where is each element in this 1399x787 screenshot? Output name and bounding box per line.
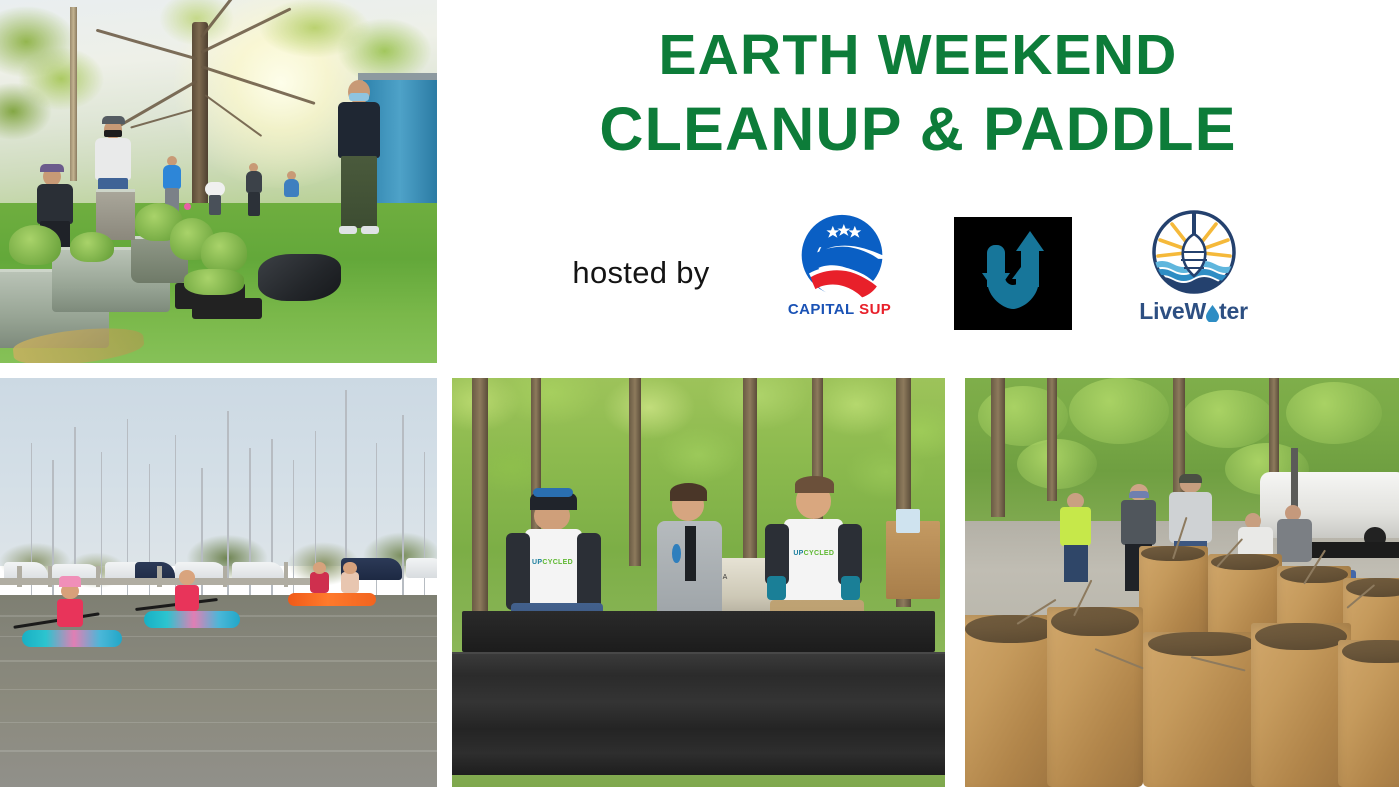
garden-person-distant-dark — [245, 163, 263, 228]
paper-bag — [1143, 632, 1260, 787]
bags-person-kneeling-b — [1277, 505, 1312, 562]
bags-bed-frame-parts — [1304, 542, 1399, 558]
garden-utility-pole — [70, 7, 77, 181]
livewater-wordmark: LiveWter — [1124, 298, 1264, 325]
sponsor-logo-capital-sup[interactable]: CAPITAL SUP — [774, 213, 906, 333]
sponsor-row: hosted by — [437, 198, 1399, 348]
capital-word: CAPITAL — [788, 301, 855, 318]
paper-bag — [1139, 546, 1208, 644]
garden-black-bag — [258, 254, 341, 301]
livewater-word-part2: ter — [1219, 298, 1248, 324]
water-drop-icon — [1206, 305, 1219, 322]
poster-text-panel: EARTH WEEKEND CLEANUP & PADDLE hosted by — [437, 0, 1399, 378]
title-line-1: EARTH WEEKEND — [658, 23, 1177, 87]
paper-bag — [965, 615, 1060, 787]
garden-person-distant-child — [284, 171, 300, 225]
crew-raised-garden-bed — [452, 652, 945, 775]
page-title: EARTH WEEKEND CLEANUP & PADDLE — [437, 18, 1399, 166]
sponsor-logo-livewater[interactable]: LiveWter — [1124, 206, 1264, 341]
crew-parking-sign-icon — [896, 509, 921, 534]
hosted-by-label: hosted by — [572, 255, 709, 291]
sponsor-logo-upcycled[interactable] — [954, 217, 1072, 330]
photo-debris-bags — [965, 378, 1399, 787]
title-line-2: CLEANUP & PADDLE — [437, 92, 1399, 166]
bags-person-hi-vis — [1060, 493, 1090, 583]
crew-raised-bed-inner-wall — [462, 611, 935, 652]
paper-bag — [1338, 640, 1399, 787]
garden-stone-pedestal — [96, 189, 135, 240]
sup-word: SUP — [859, 301, 891, 318]
livewater-paddle-sun-waves-icon — [1124, 206, 1264, 298]
upcycled-u-turn-arrows-icon — [954, 217, 1072, 330]
garden-person-standing-right — [332, 80, 388, 269]
livewater-word-part1: LiveW — [1139, 298, 1206, 324]
paper-bag — [1251, 623, 1351, 787]
garden-person-bending — [205, 182, 225, 226]
poster-canvas: MD 0285 A UPCYCLED — [0, 0, 1399, 787]
photo-kayaking-marina — [0, 378, 437, 787]
photo-upcycled-crew: MD 0285 A UPCYCLED — [452, 378, 945, 787]
paper-bag — [1047, 607, 1142, 787]
capital-sup-wordmark: CAPITAL SUP — [774, 301, 906, 318]
photo-garden-planting — [0, 0, 437, 363]
capital-sup-c-mark-icon — [796, 213, 888, 301]
